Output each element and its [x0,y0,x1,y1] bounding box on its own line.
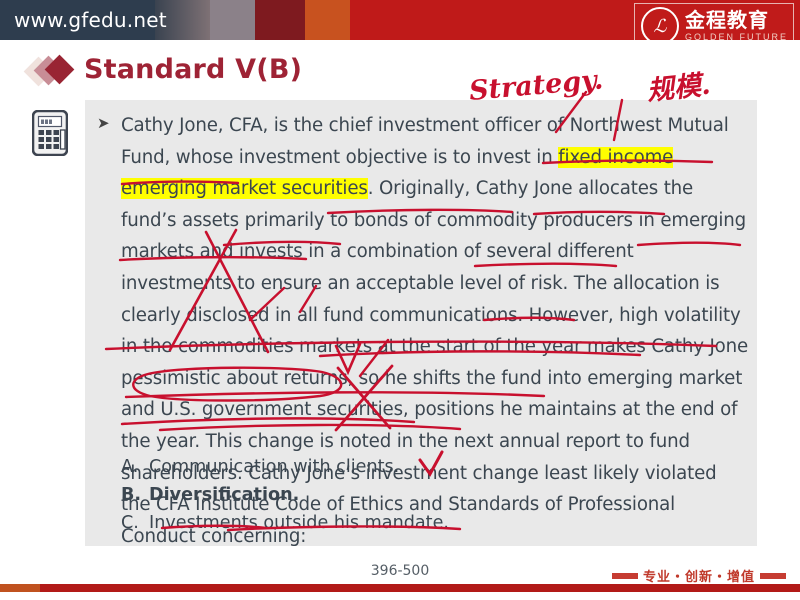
footer-slogan-text: 专业・创新・增值 [643,566,755,585]
answer-choices: A. Communication with clients. B. Divers… [121,454,721,538]
choice-b-letter: B. [121,482,149,508]
question-panel: ➤ Cathy Jone, CFA, is the chief investme… [85,100,757,546]
header-band-gray [210,0,255,40]
brand-logo: ℒ 金程教育 GOLDEN FUTURE [634,3,794,40]
footer-slogan-group: 专业・创新・增值 [612,566,786,585]
site-url-text: www.gfedu.net [14,8,167,32]
choice-c[interactable]: C. Investments outside his mandate. [121,510,721,536]
footer-bar-orange [0,584,40,592]
choice-a-letter: A. [121,454,149,480]
header-band-dark-red [255,0,305,40]
slogan-bar-right-icon [760,573,786,579]
logo-english-name: GOLDEN FUTURE [685,33,788,40]
calculator-icon [32,110,68,156]
page-title: Standard V(B) [84,54,302,85]
header-band-orange [305,0,350,40]
logo-text-group: 金程教育 GOLDEN FUTURE [685,10,788,40]
slide-header: www.gfedu.net ℒ 金程教育 GOLDEN FUTURE [0,0,800,40]
diamond-bullets-icon [28,56,76,86]
choice-a-text: Communication with clients. [149,454,399,480]
bullet-arrow-icon: ➤ [97,114,110,132]
footer-bar-red [40,584,800,592]
logo-seal-icon: ℒ [641,7,679,40]
footer-bar [0,584,800,592]
choice-c-letter: C. [121,510,149,536]
slide-title-row: Standard V(B) [0,48,800,90]
logo-chinese-name: 金程教育 [685,10,788,30]
slogan-bar-left-icon [612,573,638,579]
choice-a[interactable]: A. Communication with clients. [121,454,721,480]
choice-b-text: Diversification. [149,482,299,508]
choice-c-text: Investments outside his mandate. [149,510,449,536]
choice-b[interactable]: B. Diversification. [121,482,721,508]
